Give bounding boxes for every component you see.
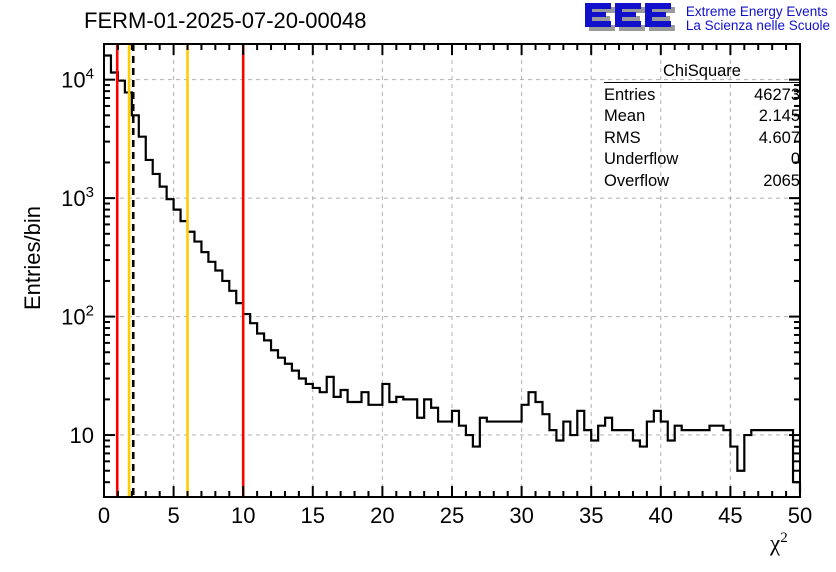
stats-value-entries: 46273 — [754, 85, 800, 106]
stats-key-underflow: Underflow — [604, 149, 678, 170]
x-tick-label: 50 — [788, 503, 812, 528]
x-tick-label: 35 — [579, 503, 603, 528]
stats-value-overflow: 2065 — [763, 171, 800, 192]
y-tick-label: 103 — [61, 184, 94, 211]
stats-divider — [604, 82, 800, 83]
stats-row-overflow: Overflow 2065 — [604, 171, 800, 192]
x-tick-label: 45 — [718, 503, 742, 528]
y-tick-label: 104 — [61, 66, 94, 93]
stats-key-entries: Entries — [604, 85, 655, 106]
x-tick-label: 10 — [231, 503, 255, 528]
stats-key-overflow: Overflow — [604, 171, 669, 192]
y-tick-label: 10 — [70, 423, 94, 448]
x-tick-label: 30 — [509, 503, 533, 528]
x-tick-label: 40 — [649, 503, 673, 528]
stats-value-underflow: 0 — [791, 149, 800, 170]
stats-row-rms: RMS 4.607 — [604, 128, 800, 149]
x-tick-label: 0 — [98, 503, 110, 528]
x-tick-label: 25 — [440, 503, 464, 528]
stats-title: ChiSquare — [604, 62, 800, 82]
chart-canvas: FERM-01-2025-07-20-00048 — [0, 0, 836, 572]
stats-row-entries: Entries 46273 — [604, 85, 800, 106]
stats-value-mean: 2.145 — [759, 106, 800, 127]
y-tick-label: 102 — [61, 303, 94, 330]
x-tick-label: 5 — [167, 503, 179, 528]
stats-key-mean: Mean — [604, 106, 645, 127]
stats-key-rms: RMS — [604, 128, 641, 149]
stats-box: ChiSquare Entries 46273 Mean 2.145 RMS 4… — [604, 62, 800, 192]
x-tick-label: 15 — [301, 503, 325, 528]
stats-row-underflow: Underflow 0 — [604, 149, 800, 170]
x-tick-label: 20 — [370, 503, 394, 528]
stats-row-mean: Mean 2.145 — [604, 106, 800, 127]
stats-value-rms: 4.607 — [759, 128, 800, 149]
